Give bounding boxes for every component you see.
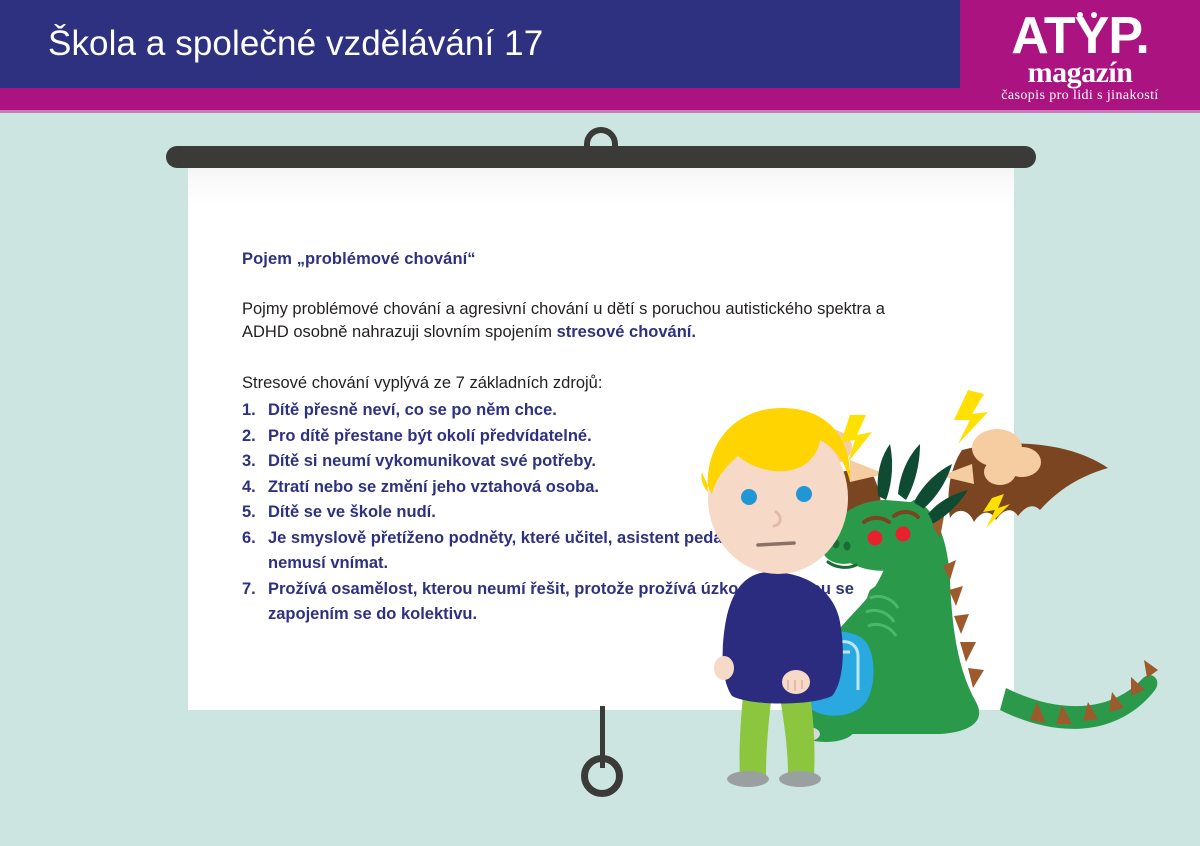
slide-heading: Pojem „problémové chování“ <box>242 248 902 270</box>
page-title: Škola a společné vzdělávání 17 <box>48 22 543 66</box>
header-bar: Škola a společné vzdělávání 17 <box>0 0 960 88</box>
list-item-label: Dítě se ve škole nudí. <box>268 500 902 526</box>
boy-shoe <box>727 771 769 787</box>
logo-tagline: časopis pro lidi s jinakostí <box>960 88 1200 104</box>
list-item: 3.Dítě si neumí vykomunikovat své potřeb… <box>242 449 902 475</box>
slide-paragraph-accent: stresové chování. <box>557 323 696 341</box>
list-item: 2.Pro dítě přestane být okolí předvídate… <box>242 424 902 450</box>
list-item-number: 1. <box>242 398 256 424</box>
list-item-label: Prožívá osamělost, kterou neumí řešit, p… <box>268 577 902 628</box>
boy-shoe <box>779 771 821 787</box>
slide-list-intro: Stresové chování vyplývá ze 7 základních… <box>242 372 902 395</box>
list-item: 1.Dítě přesně neví, co se po něm chce. <box>242 398 902 424</box>
list-item-number: 4. <box>242 475 256 501</box>
list-item-number: 3. <box>242 449 256 475</box>
slide-paragraph: Pojmy problémové chování a agresivní cho… <box>242 298 902 344</box>
list-item: 7.Prožívá osamělost, kterou neumí řešit,… <box>242 577 902 628</box>
page-root: Škola a společné vzdělávání 17 ATYP. mag… <box>0 0 1200 846</box>
header-divider <box>0 110 1200 113</box>
list-item: 4.Ztratí nebo se změní jeho vztahová oso… <box>242 475 902 501</box>
list-item-label: Dítě si neumí vykomunikovat své potřeby. <box>268 449 902 475</box>
list-item-label: Pro dítě přestane být okolí předvídateln… <box>268 424 902 450</box>
logo-wordmark: ATYP. <box>960 10 1200 62</box>
list-item: 5.Dítě se ve škole nudí. <box>242 500 902 526</box>
list-item-number: 7. <box>242 577 256 603</box>
list-item-number: 2. <box>242 424 256 450</box>
slide-content: Pojem „problémové chování“ Pojmy problém… <box>242 248 902 628</box>
header-accent-strip <box>0 88 960 110</box>
list-item-number: 6. <box>242 526 256 552</box>
stress-sources-list: 1.Dítě přesně neví, co se po něm chce. 2… <box>242 398 902 628</box>
screen-pull-ring-icon[interactable] <box>581 755 623 797</box>
list-item: 6.Je smyslově přetíženo podněty, které u… <box>242 526 902 577</box>
list-item-label: Je smyslově přetíženo podněty, které uči… <box>268 526 902 577</box>
logo-wordmark-y: Y <box>1075 10 1109 62</box>
screen-hook-icon <box>584 127 618 147</box>
dragon-tail <box>1000 660 1158 729</box>
logo-subtitle: magazín <box>960 58 1200 88</box>
list-item-label: Ztratí nebo se změní jeho vztahová osoba… <box>268 475 902 501</box>
list-item-number: 5. <box>242 500 256 526</box>
list-item-label: Dítě přesně neví, co se po něm chce. <box>268 398 902 424</box>
screen-top-bar <box>166 146 1036 168</box>
magazine-logo[interactable]: ATYP. magazín časopis pro lidi s jinakos… <box>960 0 1200 110</box>
